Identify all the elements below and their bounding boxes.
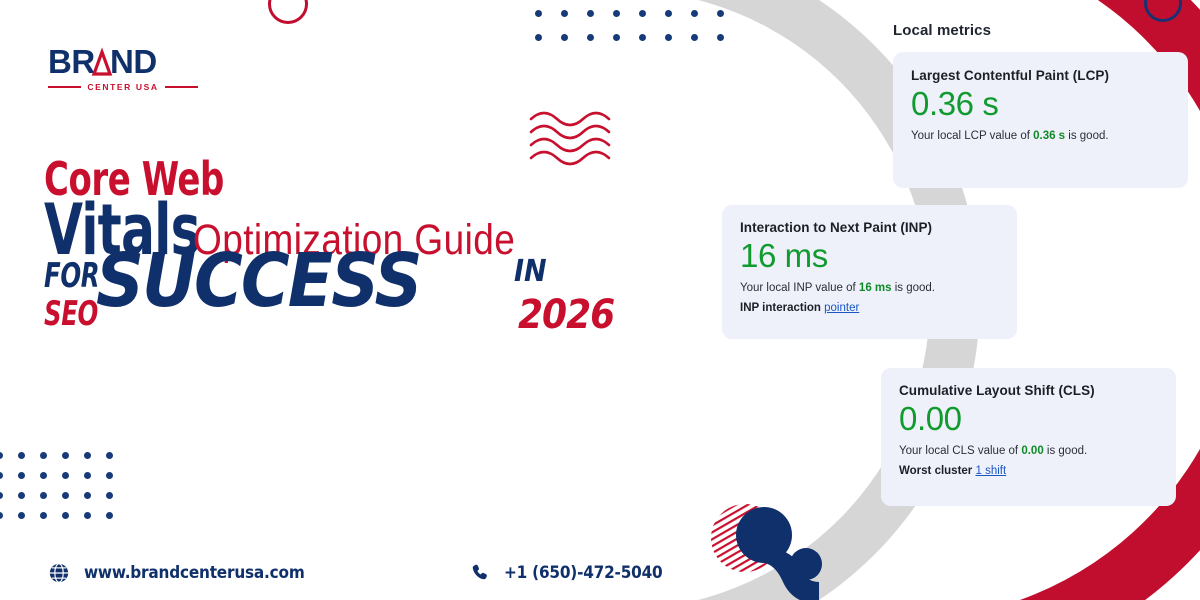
- grid-dot: [561, 10, 568, 17]
- dot-grid-top: [535, 10, 743, 58]
- metric-desc-suffix-lcp: is good.: [1065, 130, 1108, 142]
- metric-title-lcp: Largest Contentful Paint (LCP): [911, 68, 1170, 83]
- grid-dot: [691, 10, 698, 17]
- grid-dot: [613, 10, 620, 17]
- grid-dot: [106, 512, 113, 519]
- grid-dot: [40, 472, 47, 479]
- logo-rule-right: [165, 86, 198, 88]
- metric-description-cls: Your local CLS value of 0.00 is good.: [899, 445, 1158, 457]
- metric-extra-cls: Worst cluster 1 shift: [899, 465, 1158, 477]
- local-metrics-heading: Local metrics: [893, 22, 991, 39]
- grid-dot: [84, 472, 91, 479]
- metric-desc-value-inp: 16 ms: [859, 282, 892, 294]
- metric-extra-label-inp: INP interaction: [740, 302, 824, 314]
- grid-dot: [40, 492, 47, 499]
- grid-dot: [84, 512, 91, 519]
- footer-phone[interactable]: +1 (650)-472-5040: [470, 562, 662, 584]
- metric-desc-prefix-lcp: Your local LCP value of: [911, 130, 1033, 142]
- headline-in-wrap: IN: [514, 254, 547, 289]
- metric-card-cls[interactable]: Cumulative Layout Shift (CLS) 0.00 Your …: [881, 368, 1176, 506]
- grid-dot: [0, 472, 3, 479]
- headline-year: 2026: [518, 292, 614, 338]
- metric-title-inp: Interaction to Next Paint (INP): [740, 220, 999, 235]
- grid-dot: [62, 472, 69, 479]
- phone-icon: [470, 562, 490, 584]
- logo-subtitle: CENTER USA: [87, 82, 158, 92]
- grid-dot: [84, 452, 91, 459]
- page-title: Core Web Vitals Optimization Guide FOR S…: [44, 158, 604, 352]
- grid-dot: [639, 10, 646, 17]
- grid-dot: [106, 452, 113, 459]
- grid-dot: [18, 452, 25, 459]
- grid-dot: [106, 472, 113, 479]
- grid-dot: [561, 34, 568, 41]
- metric-description-lcp: Your local LCP value of 0.36 s is good.: [911, 130, 1170, 142]
- svg-text:ND: ND: [110, 44, 157, 80]
- grid-dot: [106, 492, 113, 499]
- grid-dot: [40, 512, 47, 519]
- red-wave-lines: [531, 113, 609, 164]
- red-circle-outline: [268, 0, 308, 24]
- grid-dot: [18, 512, 25, 519]
- grid-dot: [62, 492, 69, 499]
- metric-extra-inp: INP interaction pointer: [740, 302, 999, 314]
- grid-dot: [84, 492, 91, 499]
- grid-dot: [587, 34, 594, 41]
- metric-desc-prefix-inp: Your local INP value of: [740, 282, 859, 294]
- metric-value-inp: 16 ms: [740, 237, 999, 276]
- grid-dot: [0, 492, 3, 499]
- footer-website-text: www.brandcenterusa.com: [84, 563, 305, 583]
- grid-dot: [639, 34, 646, 41]
- footer-website[interactable]: www.brandcenterusa.com: [48, 562, 305, 584]
- molecule-shape: [736, 507, 822, 600]
- brand-wordmark-icon: BR ND: [48, 44, 198, 80]
- grid-dot: [0, 512, 3, 519]
- grid-dot: [62, 452, 69, 459]
- grid-dot: [0, 452, 3, 459]
- grid-dot: [717, 10, 724, 17]
- navy-circle-outline: [1144, 0, 1182, 22]
- logo-rule-left: [48, 86, 81, 88]
- grid-dot: [665, 10, 672, 17]
- metric-desc-suffix-cls: is good.: [1044, 445, 1087, 457]
- metric-desc-suffix-inp: is good.: [892, 282, 935, 294]
- headline-for: FOR: [44, 256, 99, 296]
- headline-success-wrap: SUCCESS: [96, 250, 420, 314]
- metric-desc-prefix-cls: Your local CLS value of: [899, 445, 1021, 457]
- dot-grid-left: [0, 452, 128, 532]
- grid-dot: [18, 492, 25, 499]
- svg-text:BR: BR: [48, 44, 95, 80]
- headline-line-3: FOR SEO SUCCESS IN 2026: [44, 256, 604, 352]
- metric-title-cls: Cumulative Layout Shift (CLS): [899, 383, 1158, 398]
- grid-dot: [665, 34, 672, 41]
- grid-dot: [587, 10, 594, 17]
- metric-value-lcp: 0.36 s: [911, 85, 1170, 124]
- headline-success: SUCCESS: [96, 238, 420, 324]
- grid-dot: [535, 10, 542, 17]
- headline-year-wrap: 2026: [518, 292, 614, 338]
- metric-extra-label-cls: Worst cluster: [899, 465, 975, 477]
- grid-dot: [40, 452, 47, 459]
- metric-desc-value-cls: 0.00: [1021, 445, 1043, 457]
- metric-value-cls: 0.00: [899, 400, 1158, 439]
- headline-seo: SEO: [44, 294, 98, 334]
- footer-phone-text: +1 (650)-472-5040: [504, 563, 662, 583]
- grid-dot: [717, 34, 724, 41]
- metric-desc-value-lcp: 0.36 s: [1033, 130, 1065, 142]
- worst-cluster-link[interactable]: 1 shift: [975, 465, 1006, 477]
- grid-dot: [691, 34, 698, 41]
- metric-description-inp: Your local INP value of 16 ms is good.: [740, 282, 999, 294]
- inp-interaction-link[interactable]: pointer: [824, 302, 859, 314]
- brand-logo[interactable]: BR ND CENTER USA: [48, 44, 198, 92]
- grid-dot: [535, 34, 542, 41]
- grid-dot: [62, 512, 69, 519]
- headline-in: IN: [514, 254, 547, 289]
- logo-subtitle-row: CENTER USA: [48, 82, 198, 92]
- metric-card-inp[interactable]: Interaction to Next Paint (INP) 16 ms Yo…: [722, 205, 1017, 339]
- grid-dot: [613, 34, 620, 41]
- striped-circle: [711, 504, 779, 572]
- globe-icon: [48, 562, 70, 584]
- metric-card-lcp[interactable]: Largest Contentful Paint (LCP) 0.36 s Yo…: [893, 52, 1188, 188]
- grid-dot: [18, 472, 25, 479]
